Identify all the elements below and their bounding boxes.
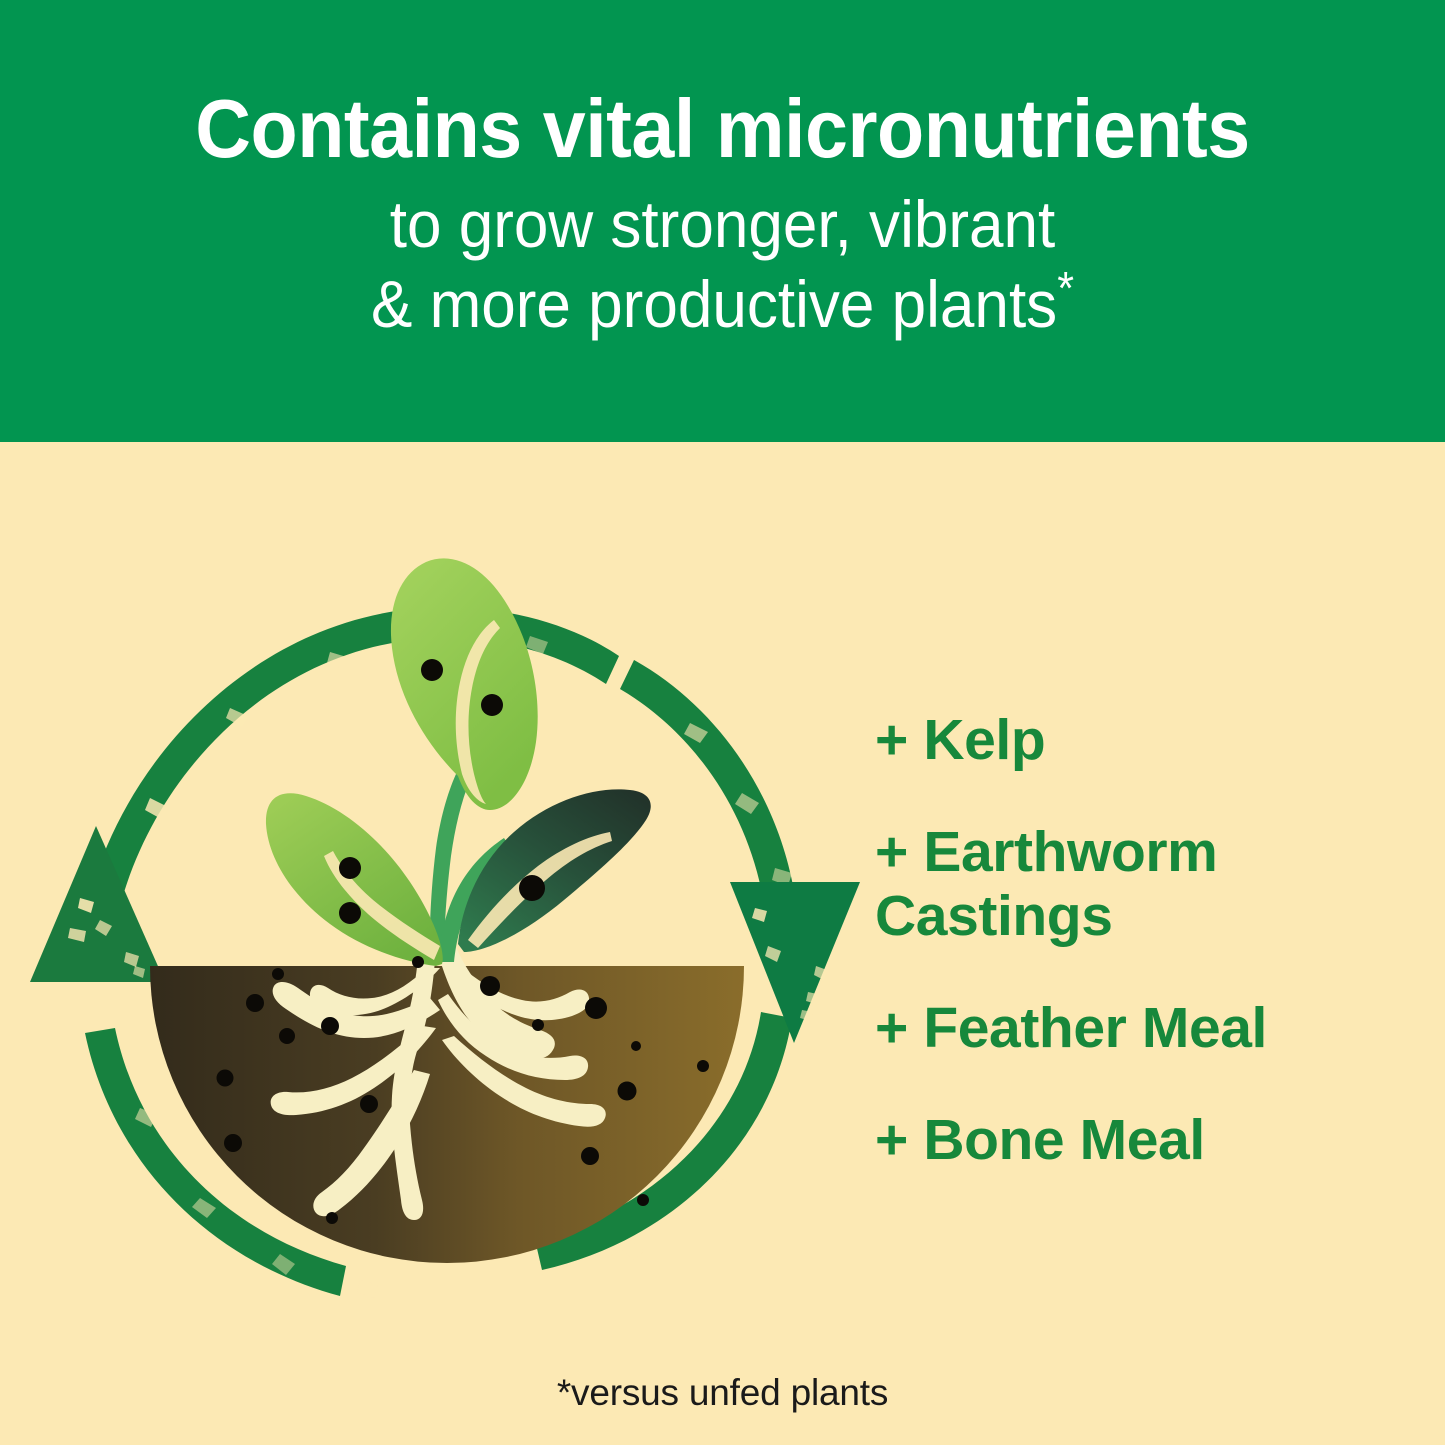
leaf-top-icon bbox=[391, 558, 538, 810]
arrow-up-icon bbox=[30, 826, 165, 982]
ingredient-item-bone-meal: + Bone Meal bbox=[875, 1108, 1395, 1172]
leaf-right-icon bbox=[458, 789, 651, 952]
arrow-down-icon bbox=[730, 882, 860, 1043]
ingredient-list: + Kelp + Earthworm Castings + Feather Me… bbox=[875, 708, 1395, 1172]
asterisk-marker: * bbox=[1057, 262, 1074, 314]
header-banner: Contains vital micronutrients to grow st… bbox=[0, 0, 1445, 442]
footnote: *versus unfed plants bbox=[0, 1372, 1445, 1414]
leaf-left-icon bbox=[266, 793, 443, 968]
subhead-line-1: to grow stronger, vibrant bbox=[390, 187, 1056, 261]
ingredient-item-feather-meal: + Feather Meal bbox=[875, 996, 1395, 1060]
subhead-line-2: & more productive plants bbox=[371, 267, 1057, 341]
ingredient-item-kelp: + Kelp bbox=[875, 708, 1395, 772]
subhead: to grow stronger, vibrant & more product… bbox=[43, 184, 1401, 344]
headline: Contains vital micronutrients bbox=[51, 84, 1395, 174]
promo-graphic: Contains vital micronutrients to grow st… bbox=[0, 0, 1445, 1445]
ingredient-item-earthworm-castings: + Earthworm Castings bbox=[875, 820, 1395, 948]
soil-cycle-illustration bbox=[30, 548, 860, 1338]
